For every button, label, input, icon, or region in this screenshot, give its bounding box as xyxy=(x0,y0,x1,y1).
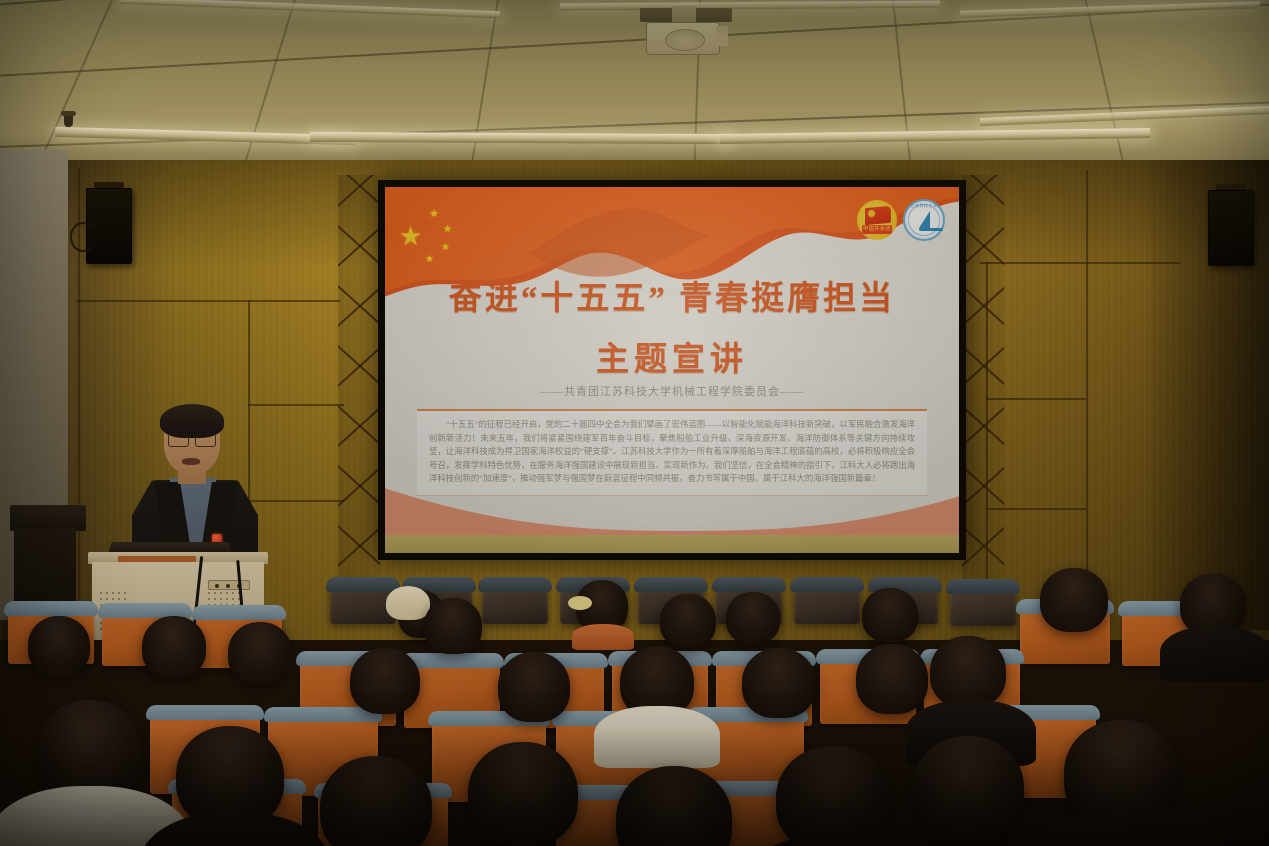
projection-screen-frame: ★ ★ ★ ★ ★ 中国共青团 江苏科技大学 xyxy=(378,180,966,560)
ceiling-projector xyxy=(646,22,720,55)
fire-sprinkler-icon xyxy=(64,115,73,127)
flag-star-small: ★ xyxy=(429,209,439,220)
hair xyxy=(160,404,224,438)
audience-head xyxy=(28,616,90,676)
flag-star-small: ★ xyxy=(425,255,434,265)
projector-arm xyxy=(716,26,728,46)
sailboat-icon xyxy=(919,211,930,228)
mouth xyxy=(182,458,200,465)
flag-star-small: ★ xyxy=(441,243,450,253)
audience-head xyxy=(930,636,1006,708)
flag-star-large: ★ xyxy=(399,223,422,249)
speaker-cable-left xyxy=(70,222,96,252)
audience-shoulders xyxy=(572,624,634,650)
acoustic-lattice-panel-right xyxy=(962,175,1004,615)
seat[interactable] xyxy=(794,582,860,624)
flag-star-small: ★ xyxy=(443,225,452,235)
slide-subtitle: ——共青团江苏科技大学机械工程学院委员会—— xyxy=(385,383,959,399)
wall-speaker-right xyxy=(1208,190,1254,266)
ceiling-light xyxy=(310,132,730,144)
wall-seam xyxy=(248,404,344,406)
slide-title-line2: 主题宣讲 xyxy=(385,332,959,380)
wall-seam xyxy=(1086,170,1088,590)
acoustic-lattice-panel-left xyxy=(338,175,380,615)
lecture-hall-scene: ★ ★ ★ ★ ★ 中国共青团 江苏科技大学 xyxy=(0,0,1269,846)
audience-head xyxy=(1040,568,1108,632)
slide-body-text: “十五五”的征程已经开启，党的二十届四中全会为我们擘画了宏伟蓝图——以智能化赋能… xyxy=(429,418,915,486)
audience-head xyxy=(350,648,420,714)
beige-cap xyxy=(386,586,430,620)
audience-head xyxy=(424,598,482,654)
seated-audience xyxy=(0,560,1269,846)
audience-head xyxy=(498,652,570,722)
wall-seam xyxy=(76,300,340,302)
audience-head xyxy=(726,592,780,644)
slide-title-block: 奋进“十五五” 青春挺膺担当 主题宣讲 xyxy=(385,271,959,380)
ceiling-light xyxy=(980,106,1269,126)
cyl-ribbon-text: 中国共青团 xyxy=(862,225,892,234)
university-seal-text: 江苏科技大学 xyxy=(905,203,943,209)
audience-head xyxy=(468,742,578,846)
audience-head xyxy=(856,644,928,714)
audience-head xyxy=(912,736,1024,842)
wall-speaker-left xyxy=(86,188,132,264)
communist-youth-league-emblem-icon: 中国共青团 xyxy=(857,200,897,240)
slide-bottom-band xyxy=(385,535,959,553)
wall-seam xyxy=(980,262,1180,264)
audience-head xyxy=(142,616,206,678)
audience-shoulders xyxy=(1020,810,1240,846)
slide-body-card: “十五五”的征程已经开启，党的二十届四中全会为我们擘画了宏伟蓝图——以智能化赋能… xyxy=(417,409,927,496)
hair-tie xyxy=(568,596,592,610)
seat[interactable] xyxy=(482,582,548,624)
audience-head xyxy=(228,622,292,684)
presentation-slide: ★ ★ ★ ★ ★ 中国共青团 江苏科技大学 xyxy=(385,187,959,553)
audience-head xyxy=(862,588,918,642)
audience-shoulders xyxy=(1160,626,1269,682)
ceiling-light xyxy=(560,1,940,11)
ceiling-light xyxy=(120,0,500,18)
audience-head xyxy=(38,700,142,800)
audience-head xyxy=(742,648,816,718)
audience-shoulders xyxy=(594,706,720,768)
projection-screen: ★ ★ ★ ★ ★ 中国共青团 江苏科技大学 xyxy=(385,187,959,553)
audience-head xyxy=(660,594,716,648)
ceiling-light xyxy=(720,128,1150,144)
audience-head xyxy=(320,756,432,846)
glasses-icon xyxy=(168,434,216,445)
university-seal-icon: 江苏科技大学 xyxy=(903,199,945,241)
seat[interactable] xyxy=(950,584,1016,626)
slide-bottom-wave xyxy=(385,485,959,537)
slide-title-line1: 奋进“十五五” 青春挺膺担当 xyxy=(385,271,959,319)
ceiling xyxy=(0,0,1269,175)
ceiling-light xyxy=(960,1,1260,17)
slide-logos: 中国共青团 江苏科技大学 xyxy=(857,199,945,241)
audience-head xyxy=(776,746,890,846)
